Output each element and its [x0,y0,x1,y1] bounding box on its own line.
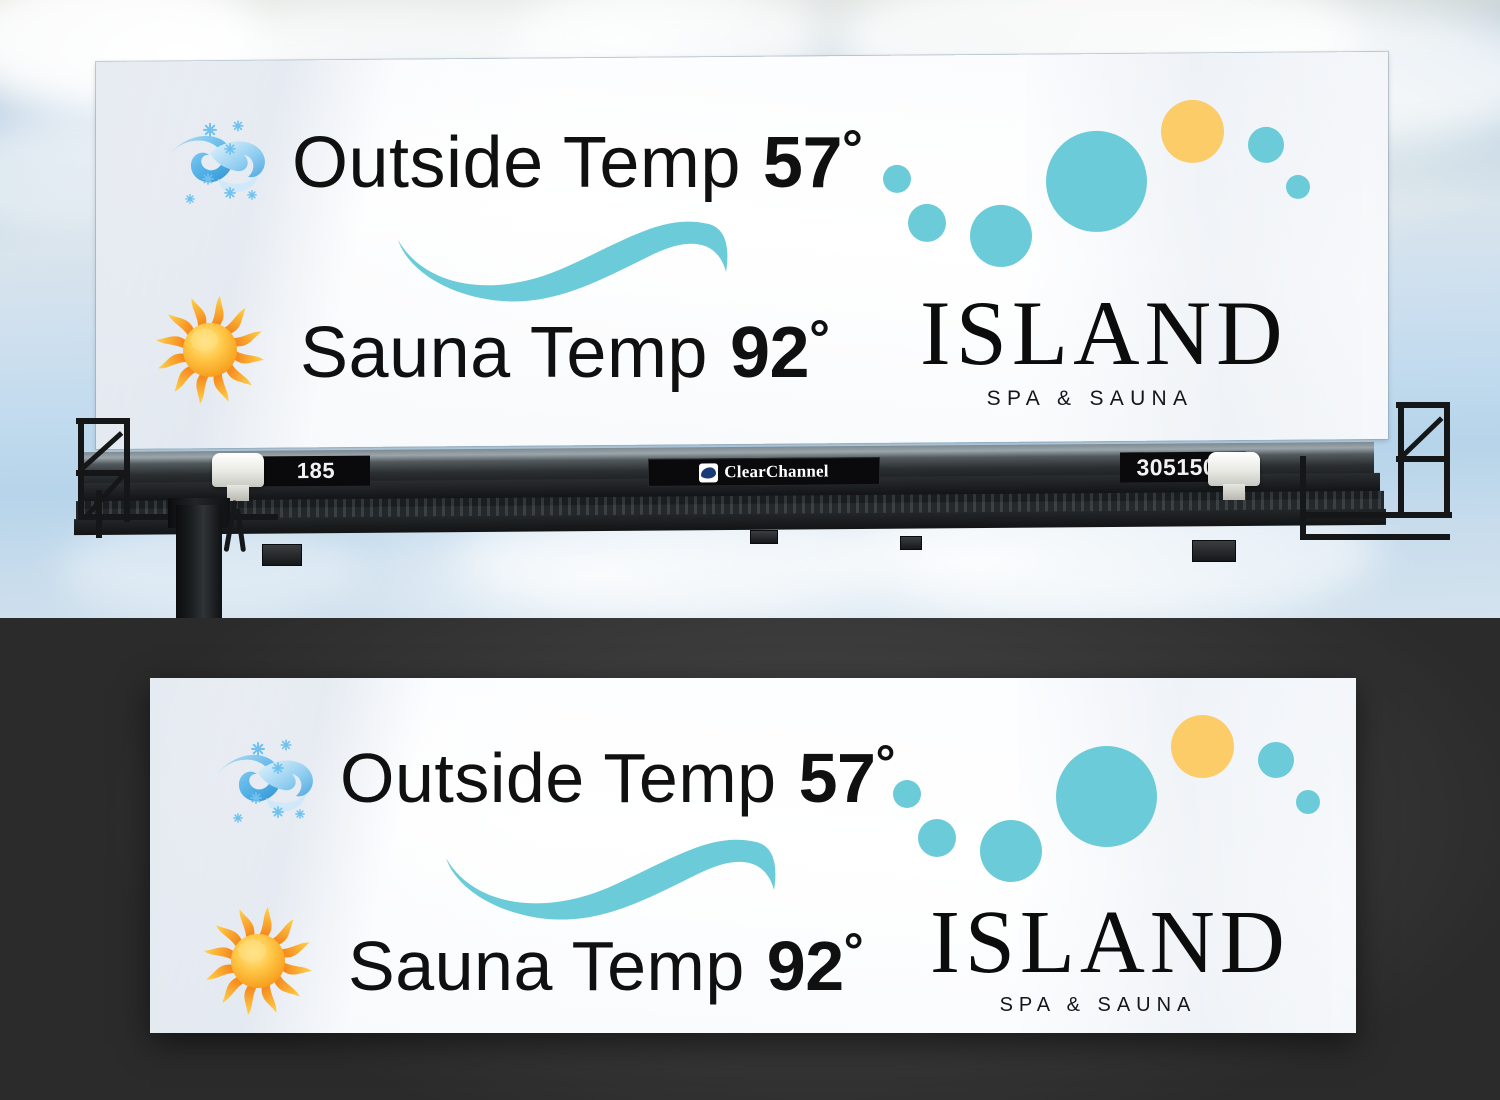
island-wordmark: ISLAND [930,898,1290,988]
floodlight-icon [212,453,264,487]
island-logo: ISLAND SPA & SAUNA [866,702,1326,1032]
wave-swoosh-icon [444,830,779,920]
island-tagline: SPA & SAUNA [940,387,1240,411]
bubble-dot [1056,746,1157,847]
catwalk-railing-icon [76,418,130,424]
outside-temp-label: Outside Temp [292,122,741,204]
clearchannel-label: ClearChannel [724,461,828,482]
bubble-dot [1258,742,1294,778]
sauna-temp-value: 92 [730,312,809,394]
bubble-dot [883,165,911,193]
junction-box [1192,540,1236,562]
junction-box [900,536,922,550]
sauna-temp-row: Sauna Temp 92 ° [300,305,830,401]
billboard-flat-artwork: Outside Temp 57 ° [150,678,1356,1033]
outside-temp-value: 57 [799,738,876,818]
bubble-dots-icon [856,87,1316,277]
catwalk-railing-icon [1396,402,1450,408]
billboard-face: Outside Temp 57 ° [96,52,1388,449]
outside-temp-label: Outside Temp [340,738,777,818]
sauna-temp-degree: ° [809,309,830,369]
sauna-temp-row: Sauna Temp 92 ° [348,918,864,1014]
bubble-dot [918,819,956,857]
sauna-temp-label: Sauna Temp [348,926,745,1006]
bubble-dot [1286,175,1310,199]
sauna-temp-degree: ° [844,922,864,980]
screenshot-stage: Outside Temp 57 ° [0,0,1500,1100]
wave-swoosh-icon [396,212,731,302]
sauna-temp-label: Sauna Temp [300,312,708,394]
wind-snow-icon [164,117,272,209]
island-wordmark: ISLAND [920,287,1288,379]
bubble-dot [1171,715,1234,778]
bubble-dot [1046,131,1147,232]
billboard-photo-scene: Outside Temp 57 ° [0,0,1500,618]
panel-number-left: 185 [262,456,370,487]
bubble-dot [980,820,1042,882]
bubble-dot [1296,790,1320,814]
sun-icon [154,295,266,405]
junction-box [262,544,302,566]
clearchannel-plate: ClearChannel [648,457,880,487]
outside-temp-row: Outside Temp 57 ° [292,115,863,211]
bubble-dots-icon [866,702,1326,892]
outside-temp-row: Outside Temp 57 ° [340,730,895,826]
floodlight-icon [1208,452,1260,486]
bubble-dot [908,204,946,242]
sun-icon [202,906,314,1016]
bubble-dot [1248,127,1284,163]
bubble-dot [1161,100,1224,163]
sauna-temp-value: 92 [767,926,844,1006]
catwalk-railing-icon [1300,512,1452,518]
bubble-dot [970,205,1032,267]
floodlight-stem [1223,484,1245,500]
catwalk-railing-icon [1300,534,1450,540]
island-tagline: SPA & SAUNA [950,994,1246,1017]
floodlight-stem [227,485,249,501]
support-pole-icon [176,505,222,618]
clearchannel-logo-icon [699,463,718,482]
island-logo: ISLAND SPA & SAUNA [856,87,1316,427]
wind-snow-icon [212,736,320,828]
catwalk-railing-icon [1300,456,1306,536]
junction-box [750,530,778,544]
outside-temp-value: 57 [763,122,842,204]
bubble-dot [893,780,921,808]
